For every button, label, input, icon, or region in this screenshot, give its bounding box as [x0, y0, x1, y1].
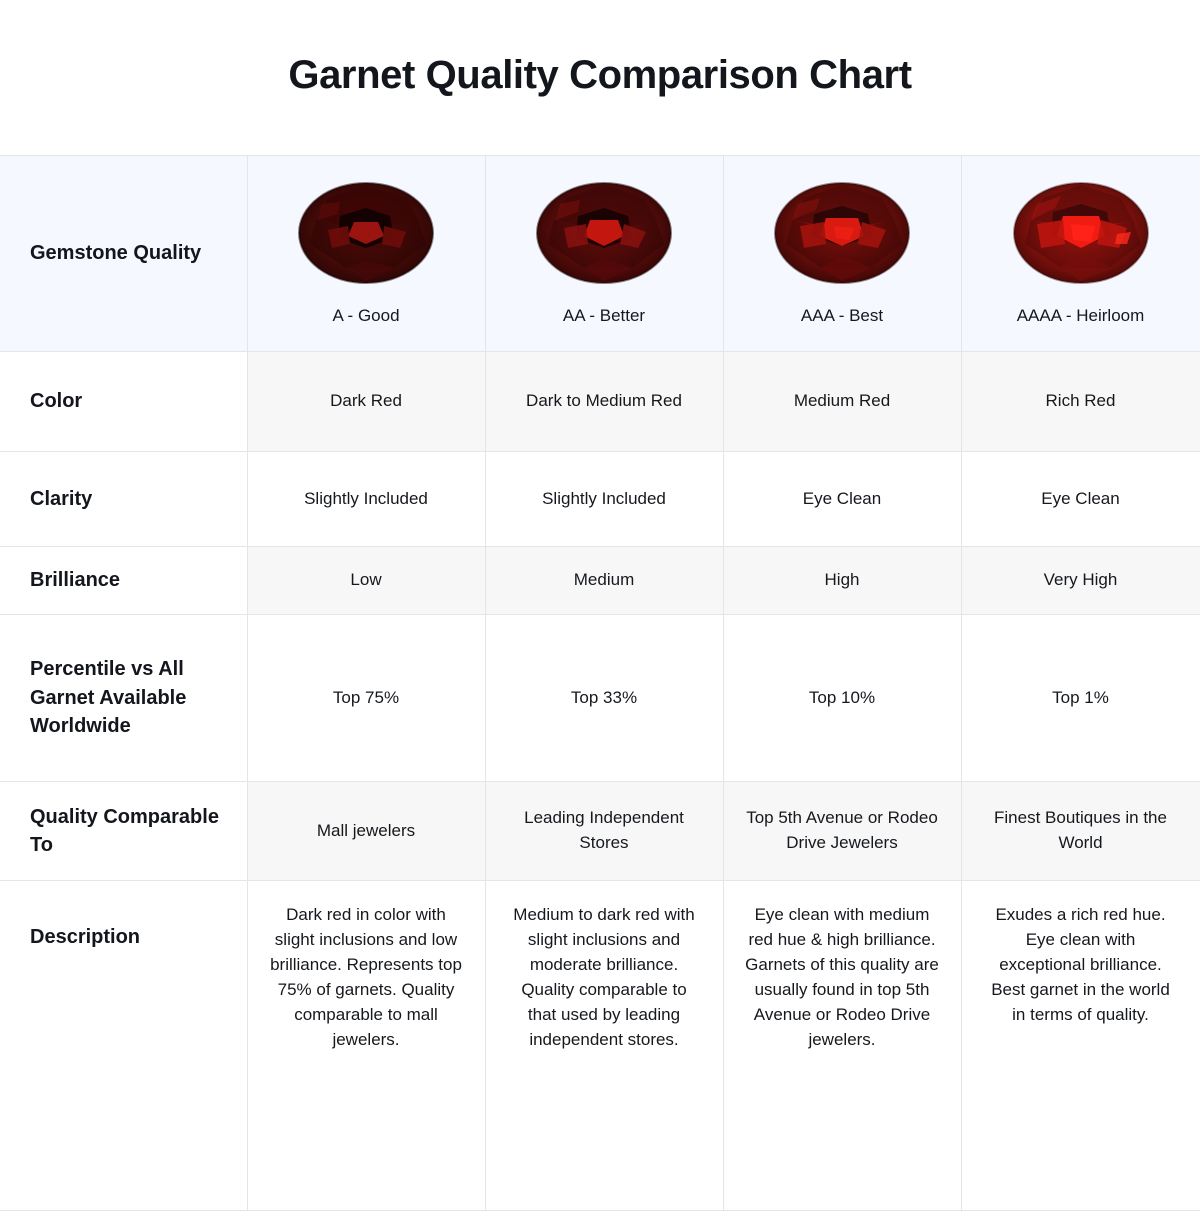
gem-grade-label-aa: AA - Better [563, 306, 645, 326]
table-row-clarity: Clarity Slightly Included Slightly Inclu… [0, 452, 1200, 547]
clarity-value-aaaa: Eye Clean [961, 452, 1200, 547]
garnet-gem-aa-icon [536, 182, 672, 284]
row-label-gemstone-quality: Gemstone Quality [0, 156, 247, 352]
clarity-value-a: Slightly Included [247, 452, 485, 547]
description-cell-a: Dark red in color with slight inclusions… [247, 881, 485, 1211]
row-label-brilliance: Brilliance [0, 547, 247, 615]
garnet-quality-comparison-page: Garnet Quality Comparison Chart Gemstone… [0, 0, 1200, 1200]
page-title: Garnet Quality Comparison Chart [0, 0, 1200, 98]
gem-cell-a: A - Good [247, 156, 485, 352]
garnet-gem-a-icon [298, 182, 434, 284]
row-label-description: Description [0, 881, 247, 1211]
description-cell-aaaa: Exudes a rich red hue. Eye clean with ex… [961, 881, 1200, 1211]
row-label-clarity: Clarity [0, 452, 247, 547]
quality-comparable-value-aaaa: Finest Boutiques in the World [961, 782, 1200, 881]
gem-grade-label-a: A - Good [332, 306, 399, 326]
table-row-color: Color Dark Red Dark to Medium Red Medium… [0, 352, 1200, 452]
row-label-color: Color [0, 352, 247, 452]
brilliance-value-aaa: High [723, 547, 961, 615]
table-row-brilliance: Brilliance Low Medium High Very High [0, 547, 1200, 615]
table-row-description: Description Dark red in color with sligh… [0, 881, 1200, 1211]
quality-comparison-table: Gemstone Quality [0, 155, 1200, 1211]
percentile-value-aa: Top 33% [485, 615, 723, 782]
garnet-gem-aaa-icon [774, 182, 910, 284]
row-label-percentile: Percentile vs All Garnet Available World… [0, 615, 247, 782]
clarity-value-aaa: Eye Clean [723, 452, 961, 547]
brilliance-value-aaaa: Very High [961, 547, 1200, 615]
percentile-value-aaa: Top 10% [723, 615, 961, 782]
percentile-value-a: Top 75% [247, 615, 485, 782]
color-value-aaaa: Rich Red [961, 352, 1200, 452]
description-cell-aa: Medium to dark red with slight inclusion… [485, 881, 723, 1211]
gem-cell-aaa: AAA - Best [723, 156, 961, 352]
gem-grade-label-aaaa: AAAA - Heirloom [1017, 306, 1145, 326]
gem-cell-aa: AA - Better [485, 156, 723, 352]
table-row-percentile: Percentile vs All Garnet Available World… [0, 615, 1200, 782]
description-cell-aaa: Eye clean with medium red hue & high bri… [723, 881, 961, 1211]
table-row-gemstone-quality: Gemstone Quality [0, 156, 1200, 352]
color-value-aa: Dark to Medium Red [485, 352, 723, 452]
description-value-a: Dark red in color with slight inclusions… [268, 903, 464, 1053]
brilliance-value-a: Low [247, 547, 485, 615]
row-label-quality-comparable: Quality Comparable To [0, 782, 247, 881]
quality-comparable-value-aa: Leading Independent Stores [485, 782, 723, 881]
gem-grade-label-aaa: AAA - Best [801, 306, 883, 326]
percentile-value-aaaa: Top 1% [961, 615, 1200, 782]
description-value-aa: Medium to dark red with slight inclusion… [506, 903, 702, 1053]
color-value-a: Dark Red [247, 352, 485, 452]
description-value-aaaa: Exudes a rich red hue. Eye clean with ex… [983, 903, 1179, 1028]
garnet-gem-aaaa-icon [1013, 182, 1149, 284]
quality-comparable-value-a: Mall jewelers [247, 782, 485, 881]
color-value-aaa: Medium Red [723, 352, 961, 452]
description-value-aaa: Eye clean with medium red hue & high bri… [744, 903, 940, 1053]
quality-comparable-value-aaa: Top 5th Avenue or Rodeo Drive Jewelers [723, 782, 961, 881]
table-row-quality-comparable: Quality Comparable To Mall jewelers Lead… [0, 782, 1200, 881]
brilliance-value-aa: Medium [485, 547, 723, 615]
clarity-value-aa: Slightly Included [485, 452, 723, 547]
gem-cell-aaaa: AAAA - Heirloom [961, 156, 1200, 352]
